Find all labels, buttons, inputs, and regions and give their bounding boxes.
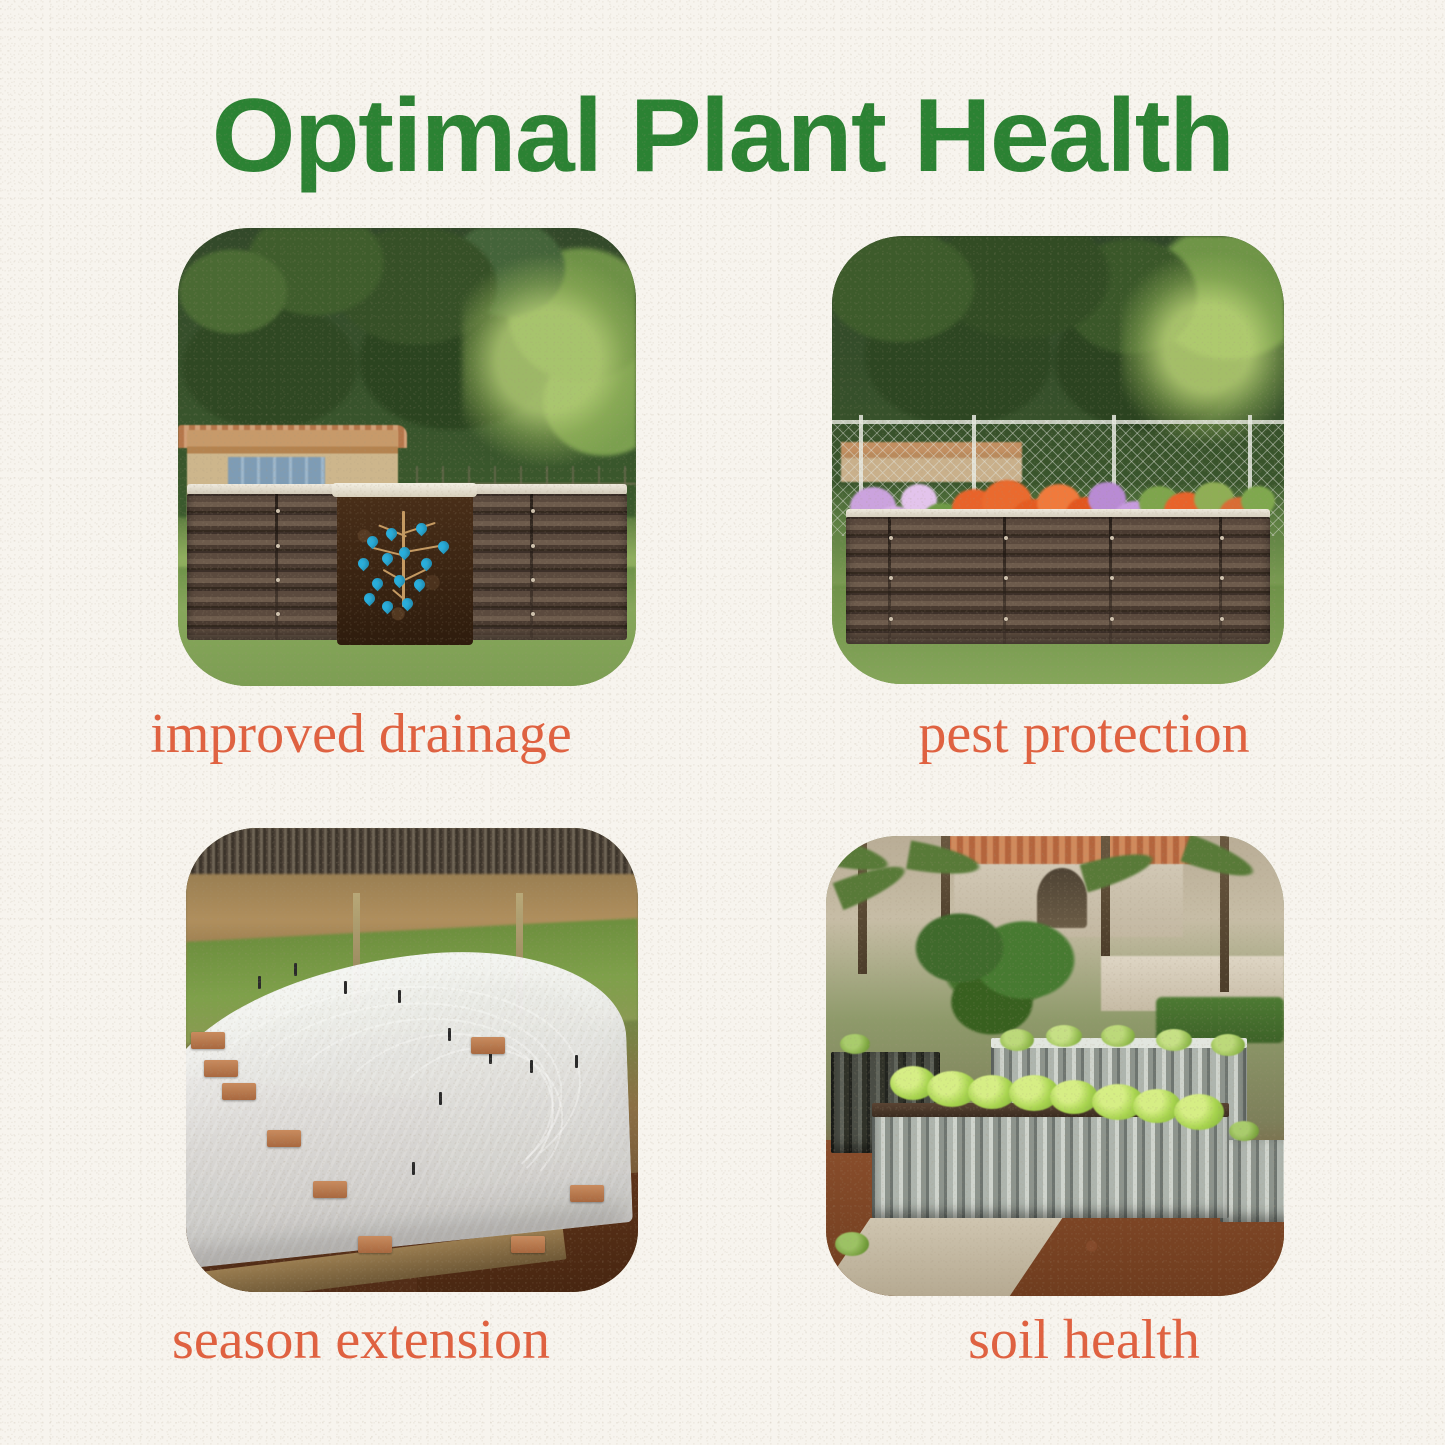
water-droplet-icon [435, 538, 451, 554]
water-droplet-icon [370, 576, 386, 592]
page-title: Optimal Plant Health [0, 84, 1445, 188]
caption-season-extension: season extension [0, 1312, 722, 1368]
bed-seam [275, 494, 278, 640]
brick-weight [191, 1032, 225, 1049]
brick-weight [511, 1236, 545, 1253]
fence-top-rail [832, 420, 1284, 424]
cover-clip [412, 1162, 415, 1175]
raised-bed-galvanized-icon [1220, 1140, 1284, 1223]
cutaway-top-lip [332, 483, 477, 497]
leafy-green [1211, 1034, 1245, 1056]
photo-pest-protection [832, 236, 1284, 684]
bed-rivet [1004, 617, 1008, 621]
caption-pest-protection: pest protection [723, 706, 1445, 762]
brick-weight [313, 1181, 347, 1198]
panel-pest-protection [832, 236, 1284, 684]
cover-clip [530, 1060, 533, 1073]
soil-cutaway-icon [337, 489, 473, 645]
bed-rivet [889, 617, 893, 621]
bed-rivet [1110, 536, 1114, 540]
brick-weight [267, 1130, 301, 1147]
photo-improved-drainage [178, 228, 636, 686]
bed-seam [530, 494, 533, 640]
cover-clip [448, 1028, 451, 1041]
brick-weight [570, 1185, 604, 1202]
caption-improved-drainage: improved drainage [0, 706, 722, 762]
leafy-green [1156, 1029, 1192, 1051]
raised-bed-brown-icon [187, 484, 627, 640]
panel-season-extension [186, 828, 638, 1292]
water-droplet-icon [356, 555, 372, 571]
cover-clip [398, 990, 401, 1003]
water-droplet-icon [397, 544, 413, 560]
leafy-green [1046, 1025, 1082, 1047]
raised-bed-galvanized-icon [872, 1112, 1229, 1218]
lettuce-head [1050, 1080, 1098, 1114]
bed-rivet [276, 544, 280, 548]
photo-soil-health [826, 836, 1284, 1296]
raised-bed-brown-icon [846, 509, 1271, 643]
cover-clip [344, 981, 347, 994]
brick-weight [471, 1037, 505, 1054]
brick-weight [358, 1236, 392, 1253]
caption-soil-health: soil health [723, 1312, 1445, 1368]
lettuce-head [1133, 1089, 1181, 1123]
bed-rivet [276, 578, 280, 582]
cover-clip [439, 1092, 442, 1105]
brick-weight [222, 1083, 256, 1100]
water-droplet-icon [362, 591, 378, 607]
bed-rivet [531, 578, 535, 582]
leafy-green [835, 1232, 869, 1256]
cover-clip [575, 1055, 578, 1068]
cover-clip [258, 976, 261, 989]
brick-weight [204, 1060, 238, 1077]
leafy-green [1101, 1025, 1135, 1047]
sunlit-foliage-icon [1121, 254, 1284, 442]
sunlit-foliage-icon [462, 255, 636, 466]
infographic-page: Optimal Plant Health [0, 0, 1445, 1445]
water-droplet-icon [364, 534, 380, 550]
bed-rivet [1004, 536, 1008, 540]
bed-corrugated-panel [846, 517, 1271, 643]
water-droplet-icon [419, 555, 435, 571]
leafy-green [840, 1034, 870, 1054]
panel-soil-health [826, 836, 1284, 1296]
panel-improved-drainage [178, 228, 636, 686]
water-droplet-icon [412, 577, 428, 593]
bed-rivet [1110, 617, 1114, 621]
lettuce-head [1174, 1094, 1224, 1130]
bed-rivet [531, 544, 535, 548]
water-droplet-icon [379, 599, 395, 615]
photo-season-extension [186, 828, 638, 1292]
